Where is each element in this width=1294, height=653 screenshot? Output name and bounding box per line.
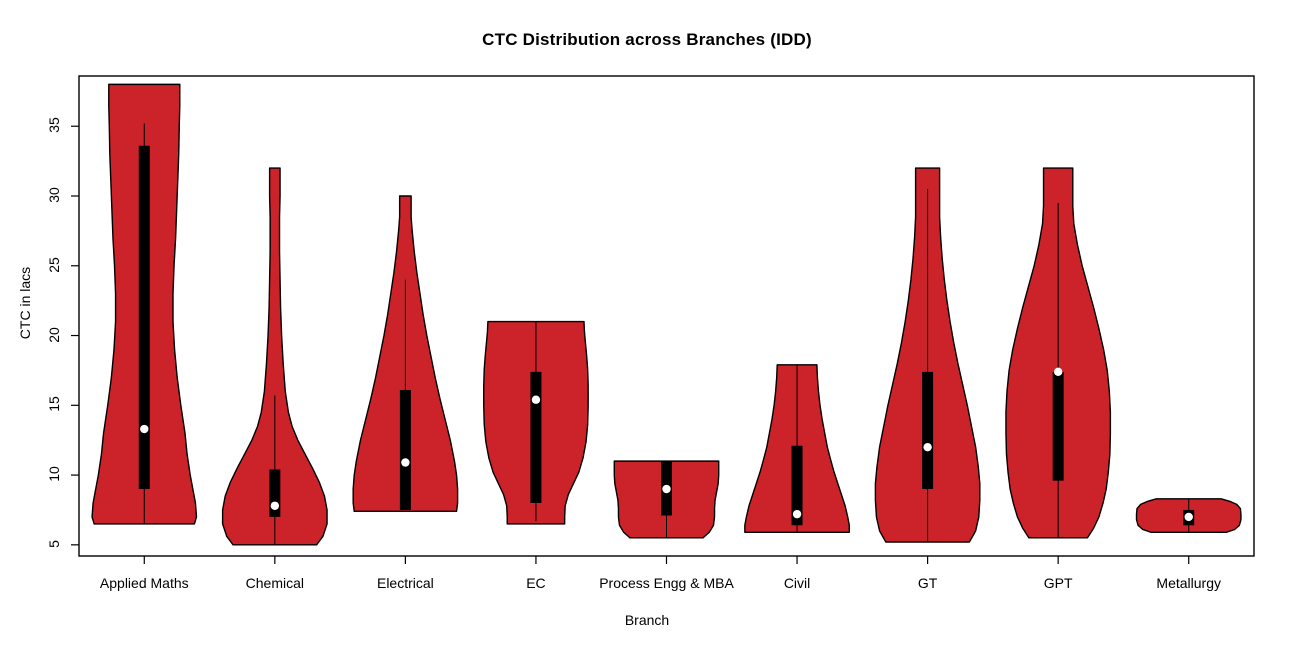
x-tick-label: Metallurgy (1156, 575, 1221, 591)
violin-plot-figure: CTC Distribution across Branches (IDD) C… (0, 0, 1294, 653)
violin-electrical (353, 196, 457, 511)
violin-ec (484, 322, 588, 524)
y-tick-label: 15 (46, 389, 62, 419)
x-tick-label: GT (918, 575, 937, 591)
median-point (793, 510, 801, 518)
y-axis-label: CTC in lacs (17, 233, 33, 373)
violin-civil (745, 365, 849, 532)
y-tick-label: 10 (46, 459, 62, 489)
x-tick-label: Process Engg & MBA (599, 575, 734, 591)
median-point (662, 485, 670, 493)
violin-applied-maths (92, 84, 196, 524)
x-tick-label: GPT (1044, 575, 1073, 591)
x-tick-label: EC (526, 575, 545, 591)
median-point (140, 425, 148, 433)
violin-process-engg-mba (614, 461, 718, 538)
y-tick-label: 25 (46, 250, 62, 280)
median-point (271, 502, 279, 510)
x-tick-label: Civil (784, 575, 810, 591)
median-point (401, 458, 409, 466)
violin-gt (875, 168, 979, 542)
x-axis-label: Branch (0, 612, 1294, 628)
x-tick-label: Applied Maths (100, 575, 189, 591)
violin-metallurgy (1137, 499, 1241, 532)
median-point (532, 396, 540, 404)
x-tick-label: Electrical (377, 575, 434, 591)
median-point (1185, 513, 1193, 521)
violin-gpt (1006, 168, 1110, 538)
x-tick-label: Chemical (246, 575, 304, 591)
median-point (923, 443, 931, 451)
plot-canvas (0, 0, 1294, 653)
y-tick-label: 30 (46, 180, 62, 210)
median-point (1054, 368, 1062, 376)
y-tick-label: 20 (46, 320, 62, 350)
y-tick-label: 35 (46, 110, 62, 140)
y-tick-label: 5 (46, 529, 62, 559)
violin-chemical (223, 168, 327, 545)
